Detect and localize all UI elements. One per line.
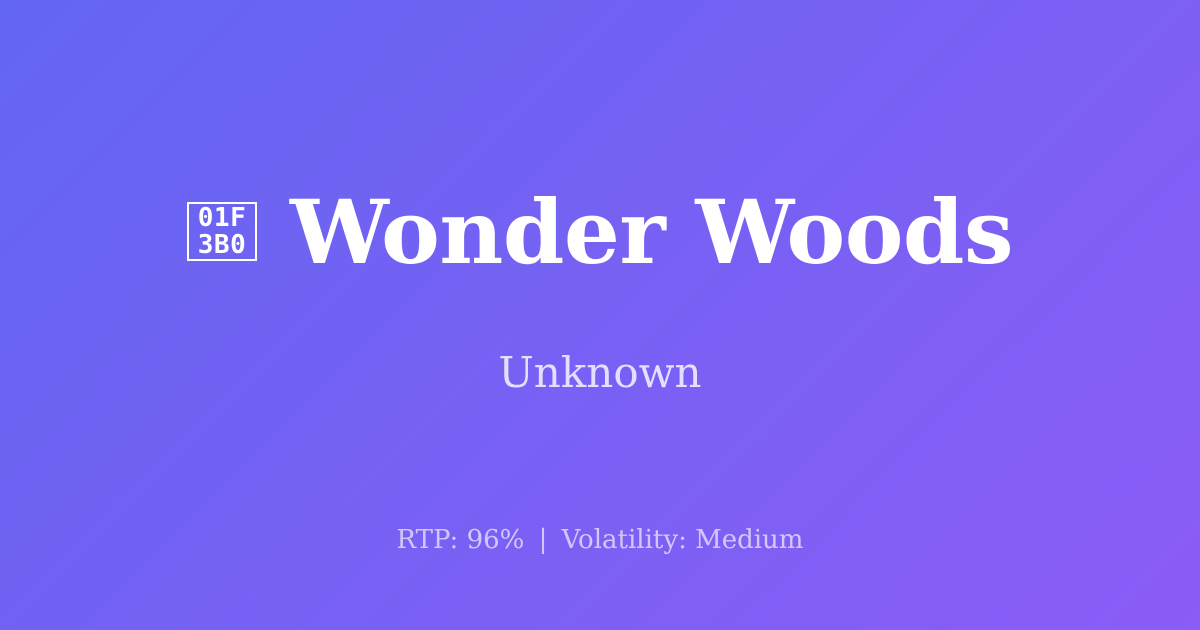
hero-block: 01F 3B0 Wonder Woods Unknown [0, 186, 1200, 397]
volatility-label: Volatility: [562, 525, 687, 555]
slot-machine-icon-codepoint-top: 01F [198, 205, 246, 232]
slot-machine-icon: 01F 3B0 [187, 202, 257, 261]
slot-machine-icon-codepoint-bottom: 3B0 [198, 232, 246, 259]
volatility-value: Medium [695, 525, 803, 555]
page-subtitle: Unknown [498, 350, 701, 396]
rtp-label: RTP: [397, 525, 459, 555]
page-title: Wonder Woods [290, 186, 1013, 278]
page-footer: RTP: 96% | Volatility: Medium [0, 452, 1200, 630]
rtp-value: 96% [467, 525, 525, 555]
title-row: 01F 3B0 Wonder Woods [0, 186, 1200, 278]
og-card: 01F 3B0 Wonder Woods Unknown RTP: 96% | … [0, 0, 1200, 630]
game-meta-line: RTP: 96% | Volatility: Medium [397, 525, 804, 556]
meta-separator: | [533, 525, 554, 555]
